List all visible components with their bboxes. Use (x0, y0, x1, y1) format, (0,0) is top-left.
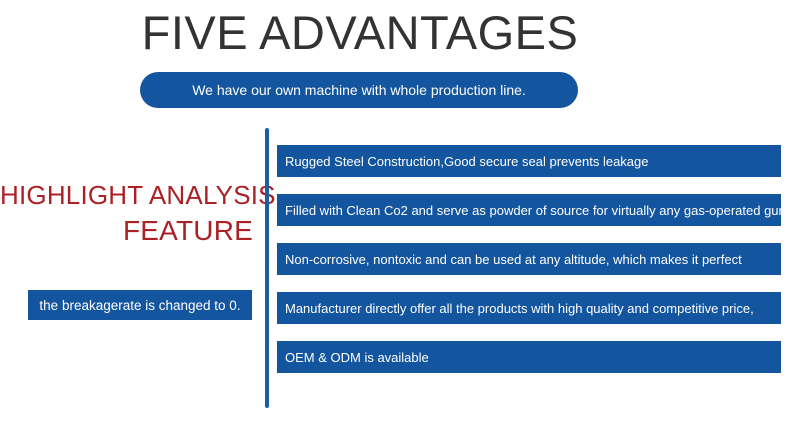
list-item: Non-corrosive, nontoxic and can be used … (277, 243, 781, 275)
list-item-label: Filled with Clean Co2 and serve as powde… (285, 203, 781, 218)
feature-heading: FEATURE (0, 212, 253, 250)
vertical-divider (265, 128, 269, 408)
subtitle-pill: We have our own machine with whole produ… (140, 72, 578, 108)
subtitle-pill-label: We have our own machine with whole produ… (192, 82, 526, 98)
highlight-analysis-heading: HIGHLIGHT ANALYSIS (0, 178, 253, 212)
list-item: Filled with Clean Co2 and serve as powde… (277, 194, 781, 226)
page-title: FIVE ADVANTAGES (0, 6, 720, 60)
left-panel: HIGHLIGHT ANALYSIS FEATURE (0, 178, 253, 250)
list-item-label: OEM & ODM is available (285, 350, 429, 365)
advantage-list: Rugged Steel Construction,Good secure se… (277, 145, 781, 373)
list-item-label: Rugged Steel Construction,Good secure se… (285, 154, 649, 169)
list-item: OEM & ODM is available (277, 341, 781, 373)
list-item: Manufacturer directly offer all the prod… (277, 292, 781, 324)
list-item-label: Non-corrosive, nontoxic and can be used … (285, 252, 742, 267)
breakage-rate-note: the breakagerate is changed to 0. (28, 290, 252, 320)
list-item: Rugged Steel Construction,Good secure se… (277, 145, 781, 177)
list-item-label: Manufacturer directly offer all the prod… (285, 301, 754, 316)
breakage-rate-note-label: the breakagerate is changed to 0. (39, 298, 240, 313)
